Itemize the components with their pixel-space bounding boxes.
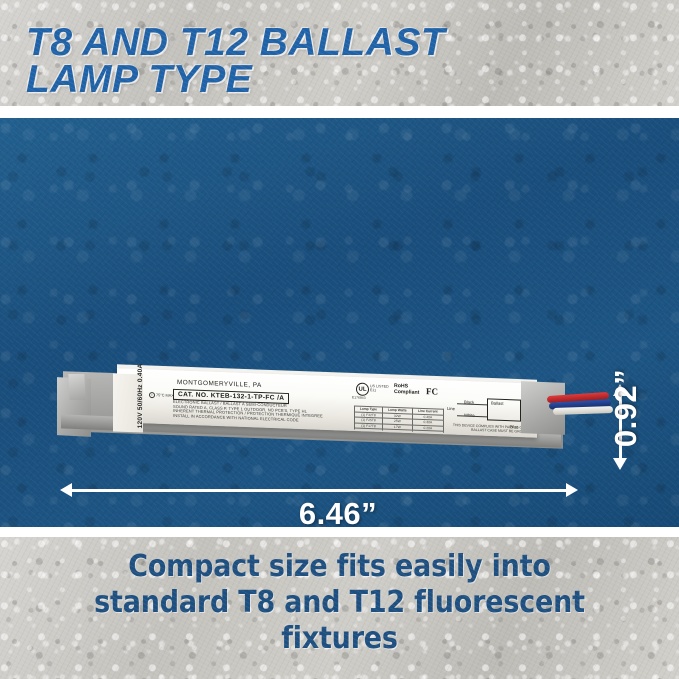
temperature-circle-icon: t [149,392,155,398]
product-photo-panel: 120V 50/60Hz 0.40A MONTGOMERYVILLE, PA C… [0,118,679,527]
caption-line-1: Compact size fits easily into [40,549,639,585]
temperature-rating-text: 75°C MAX [156,393,174,398]
wiring-label-ballast: Ballast [491,401,504,406]
temperature-rating: t75°C MAX [149,392,174,399]
panel-divider [0,527,679,537]
rohs-compliant-mark: RoHS Compliant [394,384,419,396]
rohs-line-2: Compliant [394,390,419,397]
wiring-label-line: Line [447,406,455,411]
title-line-1: T8 AND T12 BALLAST [26,24,626,61]
width-arrow-right-head [566,483,578,497]
wire-white-right [553,406,613,415]
fcc-mark-icon: FC [426,386,438,396]
caption-line-2: standard T8 and T12 fluorescent [40,585,639,621]
manufacturer-city: MONTGOMERYVILLE, PA [177,379,262,389]
caption-line-3: fixtures [40,621,639,657]
footer-banner: Compact size fits easily into standard T… [0,537,679,679]
page-title: T8 AND T12 BALLAST LAMP TYPE [26,24,626,98]
title-line-2: LAMP TYPE [26,61,626,98]
label-fineprint: ELECTRONIC BALLAST / BALLAST A SEMI-COND… [173,400,363,425]
ul-listed-label: US LISTED E11 [370,384,389,393]
ul-file-code: E11 [370,388,389,393]
header-banner: T8 AND T12 BALLAST LAMP TYPE [0,0,679,110]
width-dimension-line [70,489,570,492]
voltage-rating-text: 120V 50/60Hz 0.40A [137,364,145,428]
infographic-page: T8 AND T12 BALLAST LAMP TYPE 120V 50/60H… [0,0,679,679]
ballast-left-endcap: 120V 50/60Hz 0.40A [113,373,143,432]
mounting-bracket-left-slot [68,374,85,400]
ul-file-number: E176943 [352,395,366,399]
header-divider [0,106,679,118]
feature-caption: Compact size fits easily into standard T… [40,549,639,657]
height-dimension-label: 0.92” [608,348,644,468]
ul-listed-icon: UL [356,383,369,396]
certification-marks: UL E176943 US LISTED E11 RoHS Compliant … [352,379,444,404]
ballast-product-image: 120V 50/60Hz 0.40A MONTGOMERYVILLE, PA C… [55,366,575,476]
